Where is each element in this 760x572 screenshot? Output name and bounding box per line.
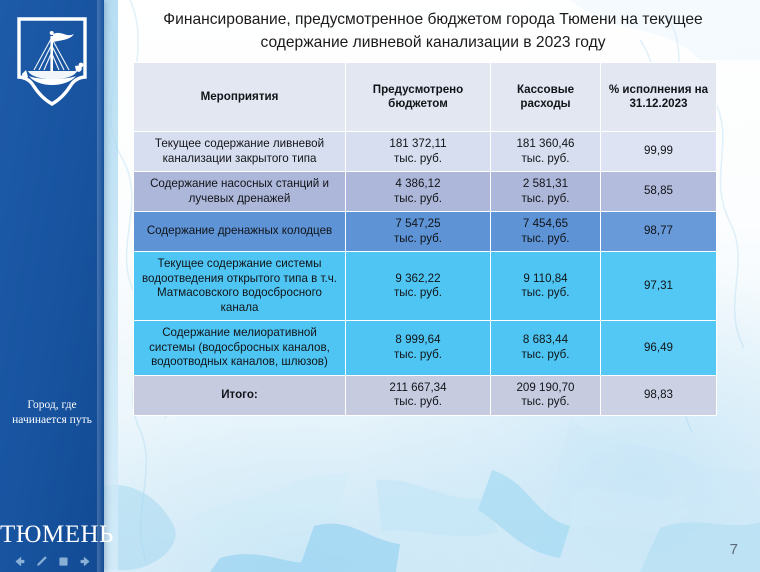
cell-total-budget-unit: тыс. руб. [394,395,442,408]
pencil-icon[interactable] [35,555,48,568]
cell-measure: Содержание дренажных колодцев [134,212,346,252]
cell-measure: Текущее содержание системы водоотведения… [134,252,346,321]
cell-percent: 98,77 [601,212,717,252]
cell-budget-unit: тыс. руб. [394,192,442,205]
cell-total-percent: 98,83 [601,375,717,415]
city-slogan: Город, где начинается путь [4,398,100,428]
table-row: Содержание насосных станций и лучевых др… [134,172,717,212]
cell-budget-unit: тыс. руб. [394,286,442,299]
cell-budget-value: 7 547,25 [395,217,440,230]
column-header-percent: % исполнения на 31.12.2023 [601,63,717,132]
left-sidebar: Город, где начинается путь ТЮМЕНЬ [0,0,104,572]
arrow-right-icon[interactable] [79,555,92,568]
cell-cash: 181 360,46 тыс. руб. [491,132,601,172]
presentation-slide: Город, где начинается путь ТЮМЕНЬ Финанс… [0,0,760,572]
cell-percent: 96,49 [601,321,717,376]
cell-cash-value: 9 110,84 [523,272,567,285]
cell-budget-value: 181 372,11 [389,137,446,150]
slide-nav-bar[interactable] [0,551,104,572]
table-row: Содержание мелиоративной системы (водосб… [134,321,717,376]
sidebar-edge-gradient [104,0,118,572]
cell-percent: 58,85 [601,172,717,212]
cell-total-budget: 211 667,34 тыс. руб. [346,375,491,415]
cell-cash-value: 8 683,44 [523,333,568,346]
cell-budget-value: 4 386,12 [395,177,440,190]
cell-percent: 99,99 [601,132,717,172]
cell-budget-value: 8 999,64 [395,333,440,346]
cell-cash-unit: тыс. руб. [522,286,570,299]
background-map-shapes [100,470,760,572]
financing-table: Мероприятия Предусмотрено бюджетом Кассо… [133,62,717,416]
cell-cash-value: 7 454,65 [523,217,568,230]
cell-budget: 181 372,11 тыс. руб. [346,132,491,172]
cell-budget-unit: тыс. руб. [394,232,442,245]
arrow-left-icon[interactable] [13,555,26,568]
table-total-row: Итого: 211 667,34 тыс. руб. 209 190,70 т… [134,375,717,415]
cell-total-label: Итого: [134,375,346,415]
cell-budget-unit: тыс. руб. [394,152,442,165]
cell-total-cash-value: 209 190,70 [516,381,574,394]
cell-cash-unit: тыс. руб. [522,192,570,205]
slide-title: Финансирование, предусмотренное бюджетом… [126,8,740,54]
table-row: Содержание дренажных колодцев 7 547,25 т… [134,212,717,252]
table-row: Текущее содержание ливневой канализации … [134,132,717,172]
cell-total-cash: 209 190,70 тыс. руб. [491,375,601,415]
square-icon[interactable] [57,555,70,568]
page-number: 7 [730,541,738,558]
cell-budget: 9 362,22 тыс. руб. [346,252,491,321]
cell-percent: 97,31 [601,252,717,321]
cell-cash-value: 2 581,31 [523,177,568,190]
cell-cash: 7 454,65 тыс. руб. [491,212,601,252]
cell-budget: 4 386,12 тыс. руб. [346,172,491,212]
city-wordmark: ТЮМЕНЬ [0,521,104,549]
cell-measure: Текущее содержание ливневой канализации … [134,132,346,172]
cell-cash: 9 110,84 тыс. руб. [491,252,601,321]
cell-measure: Содержание мелиоративной системы (водосб… [134,321,346,376]
cell-budget: 7 547,25 тыс. руб. [346,212,491,252]
cell-cash: 8 683,44 тыс. руб. [491,321,601,376]
column-header-cash: Кассовые расходы [491,63,601,132]
cell-cash: 2 581,31 тыс. руб. [491,172,601,212]
cell-total-budget-value: 211 667,34 [389,381,446,394]
cell-budget-unit: тыс. руб. [394,348,442,361]
cell-cash-value: 181 360,46 [516,137,574,150]
column-header-budget: Предусмотрено бюджетом [346,63,491,132]
table-row: Текущее содержание системы водоотведения… [134,252,717,321]
tyumen-coat-of-arms-icon [14,14,90,110]
cell-total-cash-unit: тыс. руб. [522,395,570,408]
cell-cash-unit: тыс. руб. [522,348,570,361]
cell-measure: Содержание насосных станций и лучевых др… [134,172,346,212]
financing-table-wrapper: Мероприятия Предусмотрено бюджетом Кассо… [133,62,716,416]
cell-budget-value: 9 362,22 [395,272,440,285]
cell-cash-unit: тыс. руб. [522,152,570,165]
column-header-measure: Мероприятия [134,63,346,132]
table-header-row: Мероприятия Предусмотрено бюджетом Кассо… [134,63,717,132]
cell-budget: 8 999,64 тыс. руб. [346,321,491,376]
cell-cash-unit: тыс. руб. [522,232,570,245]
